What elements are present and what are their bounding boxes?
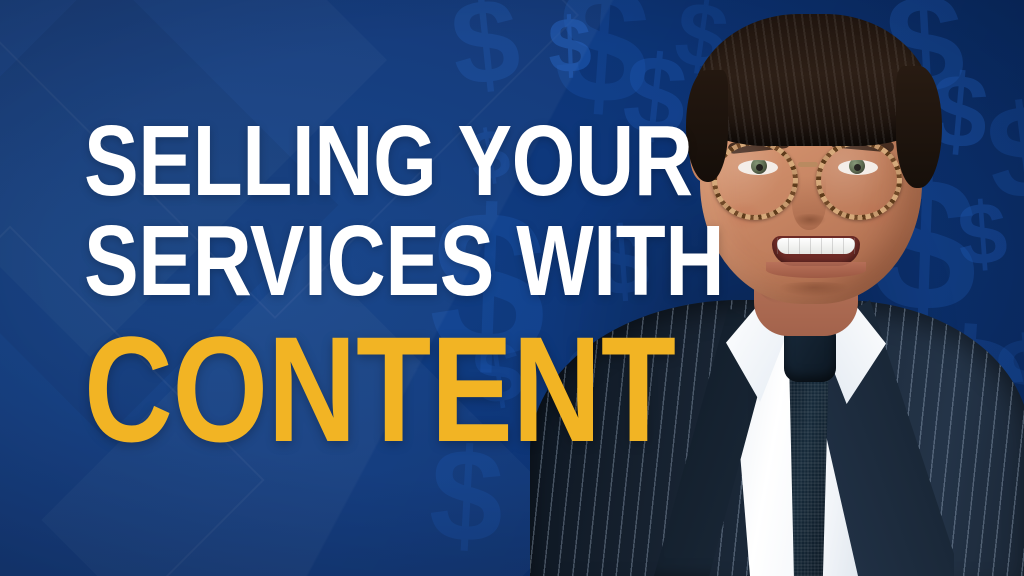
- teeth: [777, 238, 855, 254]
- chin-shadow: [766, 282, 862, 300]
- headline-line-2: SERVICES WITH: [84, 212, 510, 310]
- hair-sideburn-right: [896, 66, 942, 188]
- headline-block: SELLING YOUR SERVICES WITH CONTENT: [84, 112, 604, 464]
- thumbnail-banner: $$$$$$$$$$$$$$$$$$$$$: [0, 0, 1024, 576]
- tortoiseshell-frame-right: [816, 140, 902, 220]
- eyeglasses-lens-right: [816, 140, 902, 220]
- lower-lip: [766, 262, 866, 278]
- nose-shadow: [787, 214, 833, 228]
- headline-line-3-emphasis: CONTENT: [84, 314, 510, 464]
- eyeglasses-bridge: [798, 162, 818, 167]
- teeth-separators: [777, 238, 855, 254]
- headline-line-1: SELLING YOUR: [84, 112, 510, 210]
